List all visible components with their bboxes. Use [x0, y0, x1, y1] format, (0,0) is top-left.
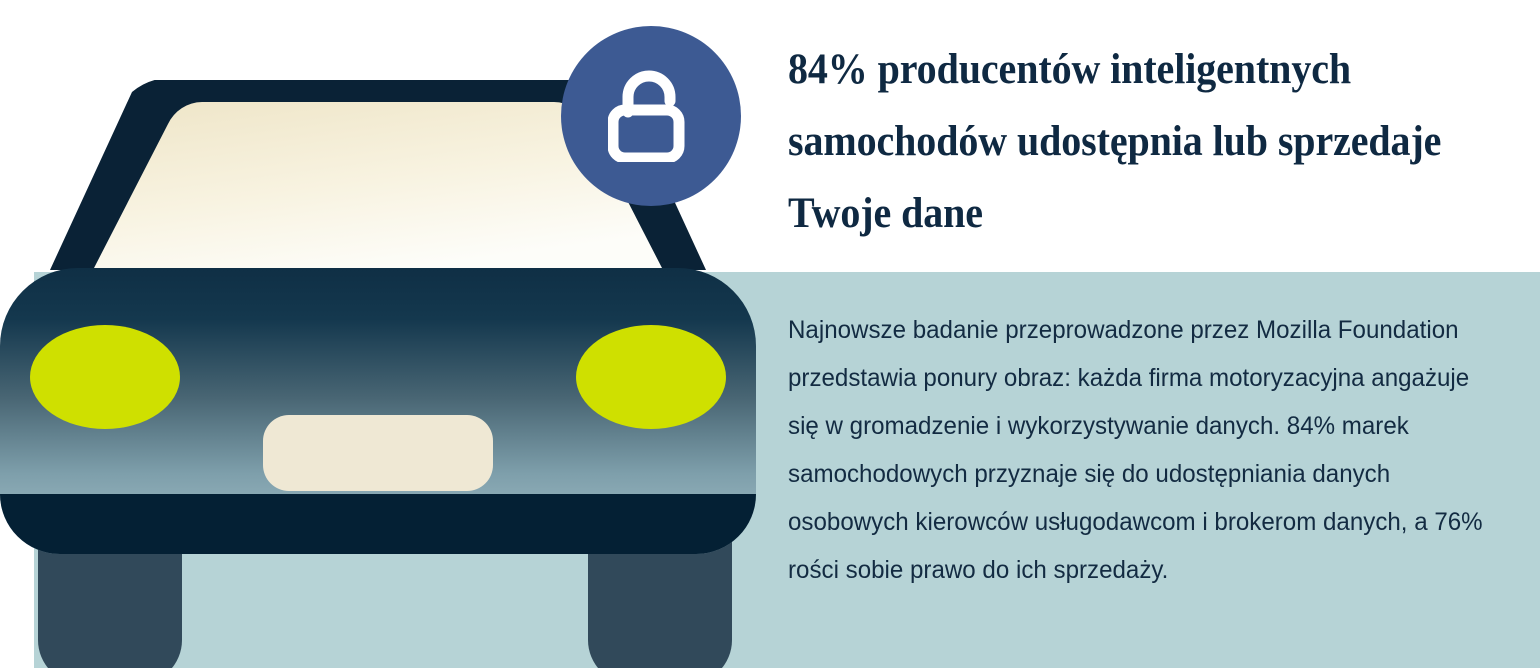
padlock-body: [613, 110, 679, 158]
unlocked-padlock-badge: [561, 26, 741, 206]
unlocked-padlock-icon: [608, 70, 694, 162]
body-paragraph: Najnowsze badanie przeprowadzone przez M…: [788, 306, 1489, 594]
text-column: 84% producentów inteligentnych samochodó…: [756, 0, 1540, 668]
headlight-left: [30, 325, 180, 429]
headlight-right: [576, 325, 726, 429]
infographic-card: 84% producentów inteligentnych samochodó…: [0, 0, 1540, 668]
body-panel: Najnowsze badanie przeprowadzone przez M…: [756, 272, 1540, 668]
page-title: 84% producentów inteligentnych samochodó…: [788, 34, 1467, 250]
car-bumper: [0, 494, 756, 554]
license-plate: [263, 415, 493, 491]
headline-panel: 84% producentów inteligentnych samochodó…: [756, 0, 1540, 272]
